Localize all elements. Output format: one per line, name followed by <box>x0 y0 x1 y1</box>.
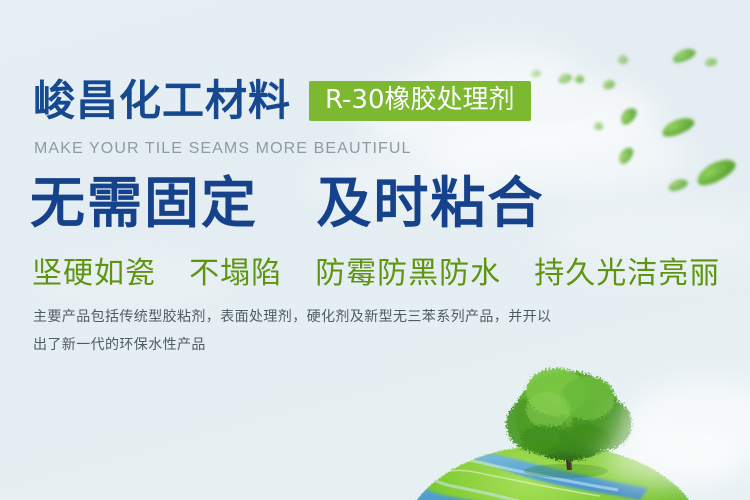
leaf-10-icon <box>693 154 739 190</box>
leaf-1-icon <box>671 46 697 65</box>
headline: 无需固定 及时粘合 <box>30 175 544 233</box>
leaf-12-icon <box>557 72 573 85</box>
cloud-wisp <box>600 430 740 490</box>
brand-row: 峻昌化工材料 R-30橡胶处理剂 <box>33 80 531 122</box>
tree-shadow <box>524 464 608 478</box>
tagline-english: MAKE YOUR TILE SEAMS MORE BEAUTIFUL <box>34 140 412 158</box>
grass-dome <box>403 445 703 500</box>
subheadline-part-4: 持久光洁亮丽 <box>534 256 720 291</box>
leaf-2-icon <box>704 57 717 67</box>
leaf-11-icon <box>667 177 689 193</box>
cloud-wisp <box>620 380 750 470</box>
tree-trunk <box>552 418 584 470</box>
subheadline: 坚硬如瓷 不塌陷 防霉防黑防水 持久光洁亮丽 <box>32 248 720 292</box>
headline-part-2: 及时粘合 <box>316 171 544 235</box>
river <box>366 444 648 500</box>
leaf-6-icon <box>618 105 640 127</box>
leaf-4-icon <box>618 55 628 64</box>
leaf-5-icon <box>602 79 616 91</box>
body-copy-line-2: 出了新一代的环保水性产品 <box>33 331 653 359</box>
promo-banner: 峻昌化工材料 R-30橡胶处理剂 MAKE YOUR TILE SEAMS MO… <box>0 0 750 500</box>
leaf-8-icon <box>594 122 603 130</box>
brand-name: 峻昌化工材料 <box>33 80 291 122</box>
body-copy: 主要产品包括传统型胶粘剂，表面处理剂，硬化剂及新型无三苯系列产品，并开以 出了新… <box>33 303 653 359</box>
subheadline-part-1: 坚硬如瓷 <box>32 256 156 291</box>
headline-part-1: 无需固定 <box>30 171 258 235</box>
product-badge: R-30橡胶处理剂 <box>309 81 530 122</box>
body-copy-line-1: 主要产品包括传统型胶粘剂，表面处理剂，硬化剂及新型无三苯系列产品，并开以 <box>33 303 653 331</box>
subheadline-part-3: 防霉防黑防水 <box>315 256 501 291</box>
leaf-9-icon <box>616 145 635 166</box>
tree-foliage <box>506 368 632 461</box>
leaf-7-icon <box>660 114 697 140</box>
leaf-13-icon <box>530 69 541 78</box>
subheadline-part-2: 不塌陷 <box>189 256 282 291</box>
leaf-3-icon <box>575 75 584 83</box>
